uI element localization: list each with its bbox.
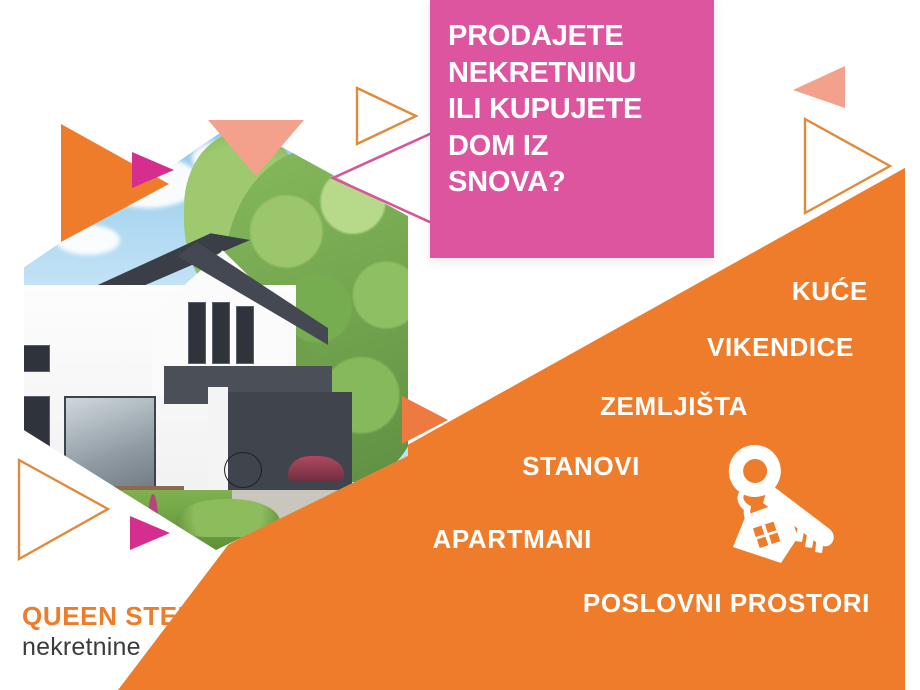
headline-banner: PRODAJETE NEKRETNINU ILI KUPUJETE DOM IZ… xyxy=(430,0,714,258)
brand-logo: QUEEN STELA nekretnine xyxy=(22,603,214,662)
category-label-apartmani: APARTMANI xyxy=(433,524,592,555)
photo-window xyxy=(16,345,50,373)
headline-text: PRODAJETE NEKRETNINU ILI KUPUJETE DOM IZ… xyxy=(448,18,704,201)
brand-name: QUEEN STELA xyxy=(22,603,214,630)
category-label-kuce: KUĆE xyxy=(792,276,868,307)
photo-bicycle xyxy=(224,452,262,488)
category-label-stanovi: STANOVI xyxy=(522,451,640,482)
photo-window xyxy=(212,302,230,364)
triangle-orange-outline-top-right xyxy=(800,114,895,218)
photo-window xyxy=(188,302,206,364)
triangle-magenta-outline-left xyxy=(328,128,438,228)
triangle-salmon-filled-top-right xyxy=(789,62,849,112)
triangle-magenta-filled-bottom xyxy=(126,512,174,554)
photo-pillar xyxy=(208,387,228,498)
key-with-house-keychain-icon xyxy=(703,435,853,565)
triangle-salmon-filled-left xyxy=(200,112,310,182)
triangle-magenta-filled-small-top xyxy=(128,148,178,192)
photo-window xyxy=(236,306,254,364)
triangle-orange-outline-bottom-left xyxy=(14,455,114,565)
photo-bush xyxy=(176,499,280,538)
real-estate-advert-poster: PRODAJETE NEKRETNINU ILI KUPUJETE DOM IZ… xyxy=(0,0,920,690)
triangle-orange-filled-mid-right xyxy=(398,392,453,448)
category-label-poslovni-prostori: POSLOVNI PROSTORI xyxy=(583,588,870,619)
brand-tagline: nekretnine xyxy=(22,632,214,662)
category-label-vikendice: VIKENDICE xyxy=(707,332,854,363)
category-label-zemljista: ZEMLJIŠTA xyxy=(600,391,748,422)
